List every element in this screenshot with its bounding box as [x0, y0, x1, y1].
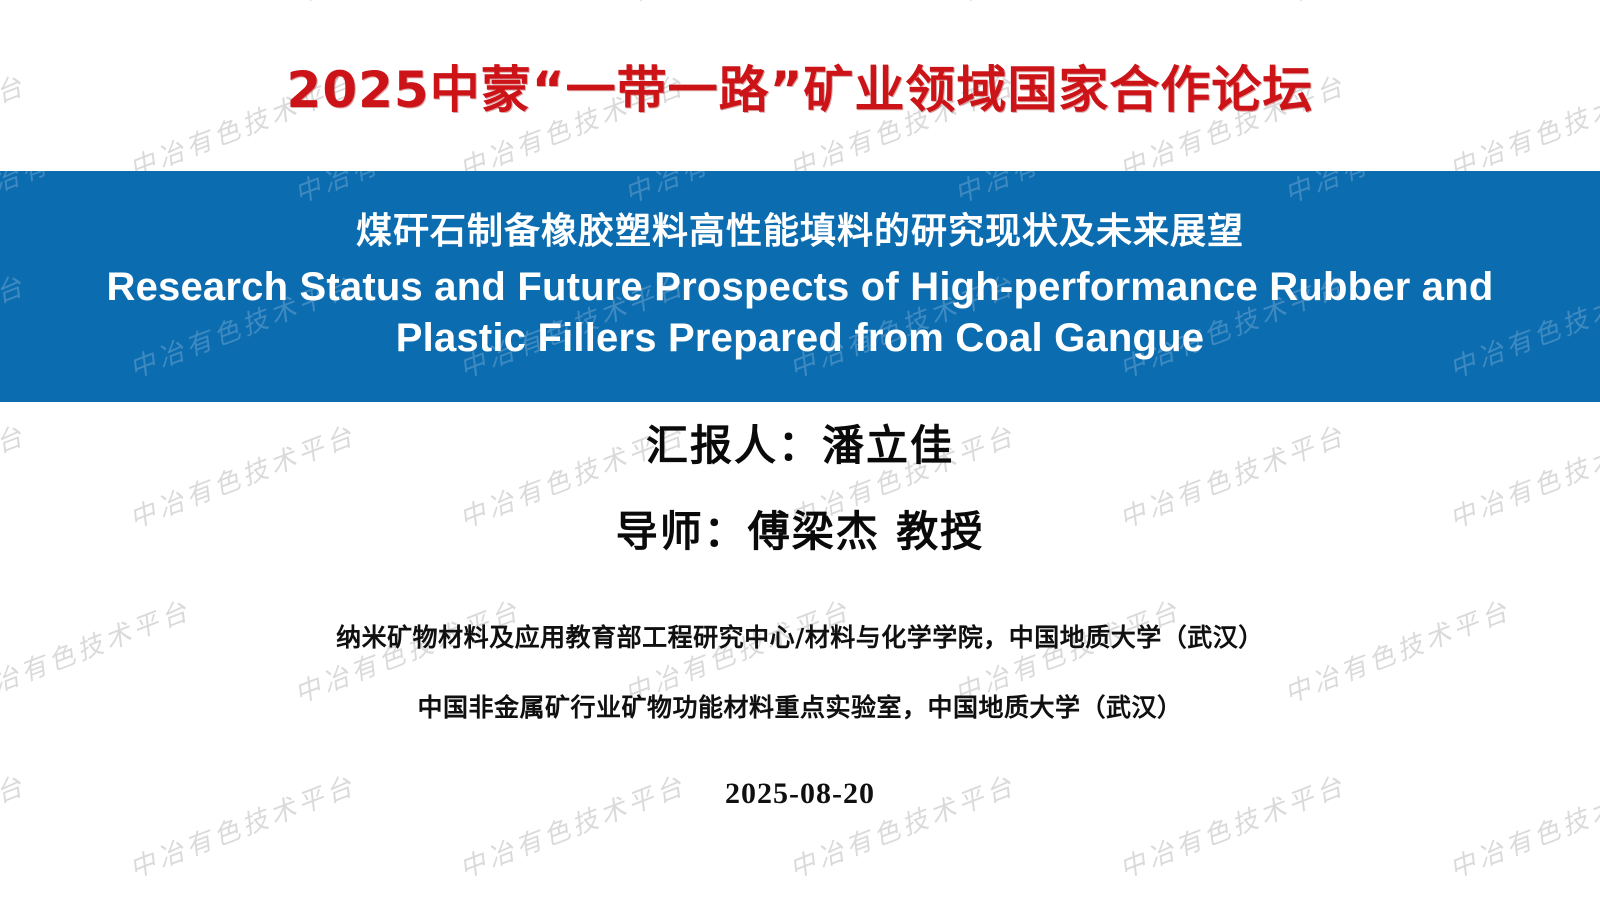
presentation-date: 2025-08-20 — [0, 777, 1600, 811]
watermark-text: 中冶有色技术平台 — [123, 0, 360, 36]
title-banner: 中冶有色技术平台中冶有色技术平台中冶有色技术平台中冶有色技术平台中冶有色技术平台… — [0, 171, 1600, 402]
paper-title-english-line2: Plastic Fillers Prepared from Coal Gangu… — [396, 313, 1204, 364]
watermark-text: 中冶有色技术平台 — [453, 0, 690, 36]
presenter-line: 汇报人：潘立佳 — [0, 425, 1600, 467]
advisor-line: 导师：傅梁杰 教授 — [0, 511, 1600, 553]
watermark-text: 中冶有色技术平台 — [618, 0, 855, 11]
watermark-text: 中冶有色技术平台 — [948, 0, 1185, 11]
watermark-text: 中冶有色技术平台 — [0, 0, 196, 11]
forum-title: 2025中蒙“一带一路”矿业领域国家合作论坛 — [0, 62, 1600, 120]
watermark-text: 中冶有色技术平台 — [288, 0, 525, 11]
paper-title-chinese: 煤矸石制备橡胶塑料高性能填料的研究现状及未来展望 — [356, 209, 1244, 256]
people-block: 汇报人：潘立佳 导师：傅梁杰 教授 — [0, 425, 1600, 553]
watermark-text: 中冶有色技术平台 — [0, 0, 31, 36]
watermark-text: 中冶有色技术平台 — [1278, 0, 1515, 11]
affiliation-line-1: 纳米矿物材料及应用教育部工程研究中心/材料与化学学院，中国地质大学（武汉） — [0, 623, 1600, 653]
affiliation-line-2: 中国非金属矿行业矿物功能材料重点实验室，中国地质大学（武汉） — [0, 693, 1600, 723]
title-slide: 中冶有色技术平台中冶有色技术平台中冶有色技术平台中冶有色技术平台中冶有色技术平台… — [0, 0, 1600, 900]
watermark-text: 中冶有色技术平台 — [1443, 0, 1600, 36]
watermark-text: 中冶有色技术平台 — [1113, 0, 1350, 36]
affiliation-block: 纳米矿物材料及应用教育部工程研究中心/材料与化学学院，中国地质大学（武汉） 中国… — [0, 623, 1600, 723]
watermark-text: 中冶有色技术平台 — [783, 0, 1020, 36]
paper-title-english-line1: Research Status and Future Prospects of … — [107, 262, 1494, 313]
watermark-text: 中冶有色技术平台 — [0, 265, 31, 386]
